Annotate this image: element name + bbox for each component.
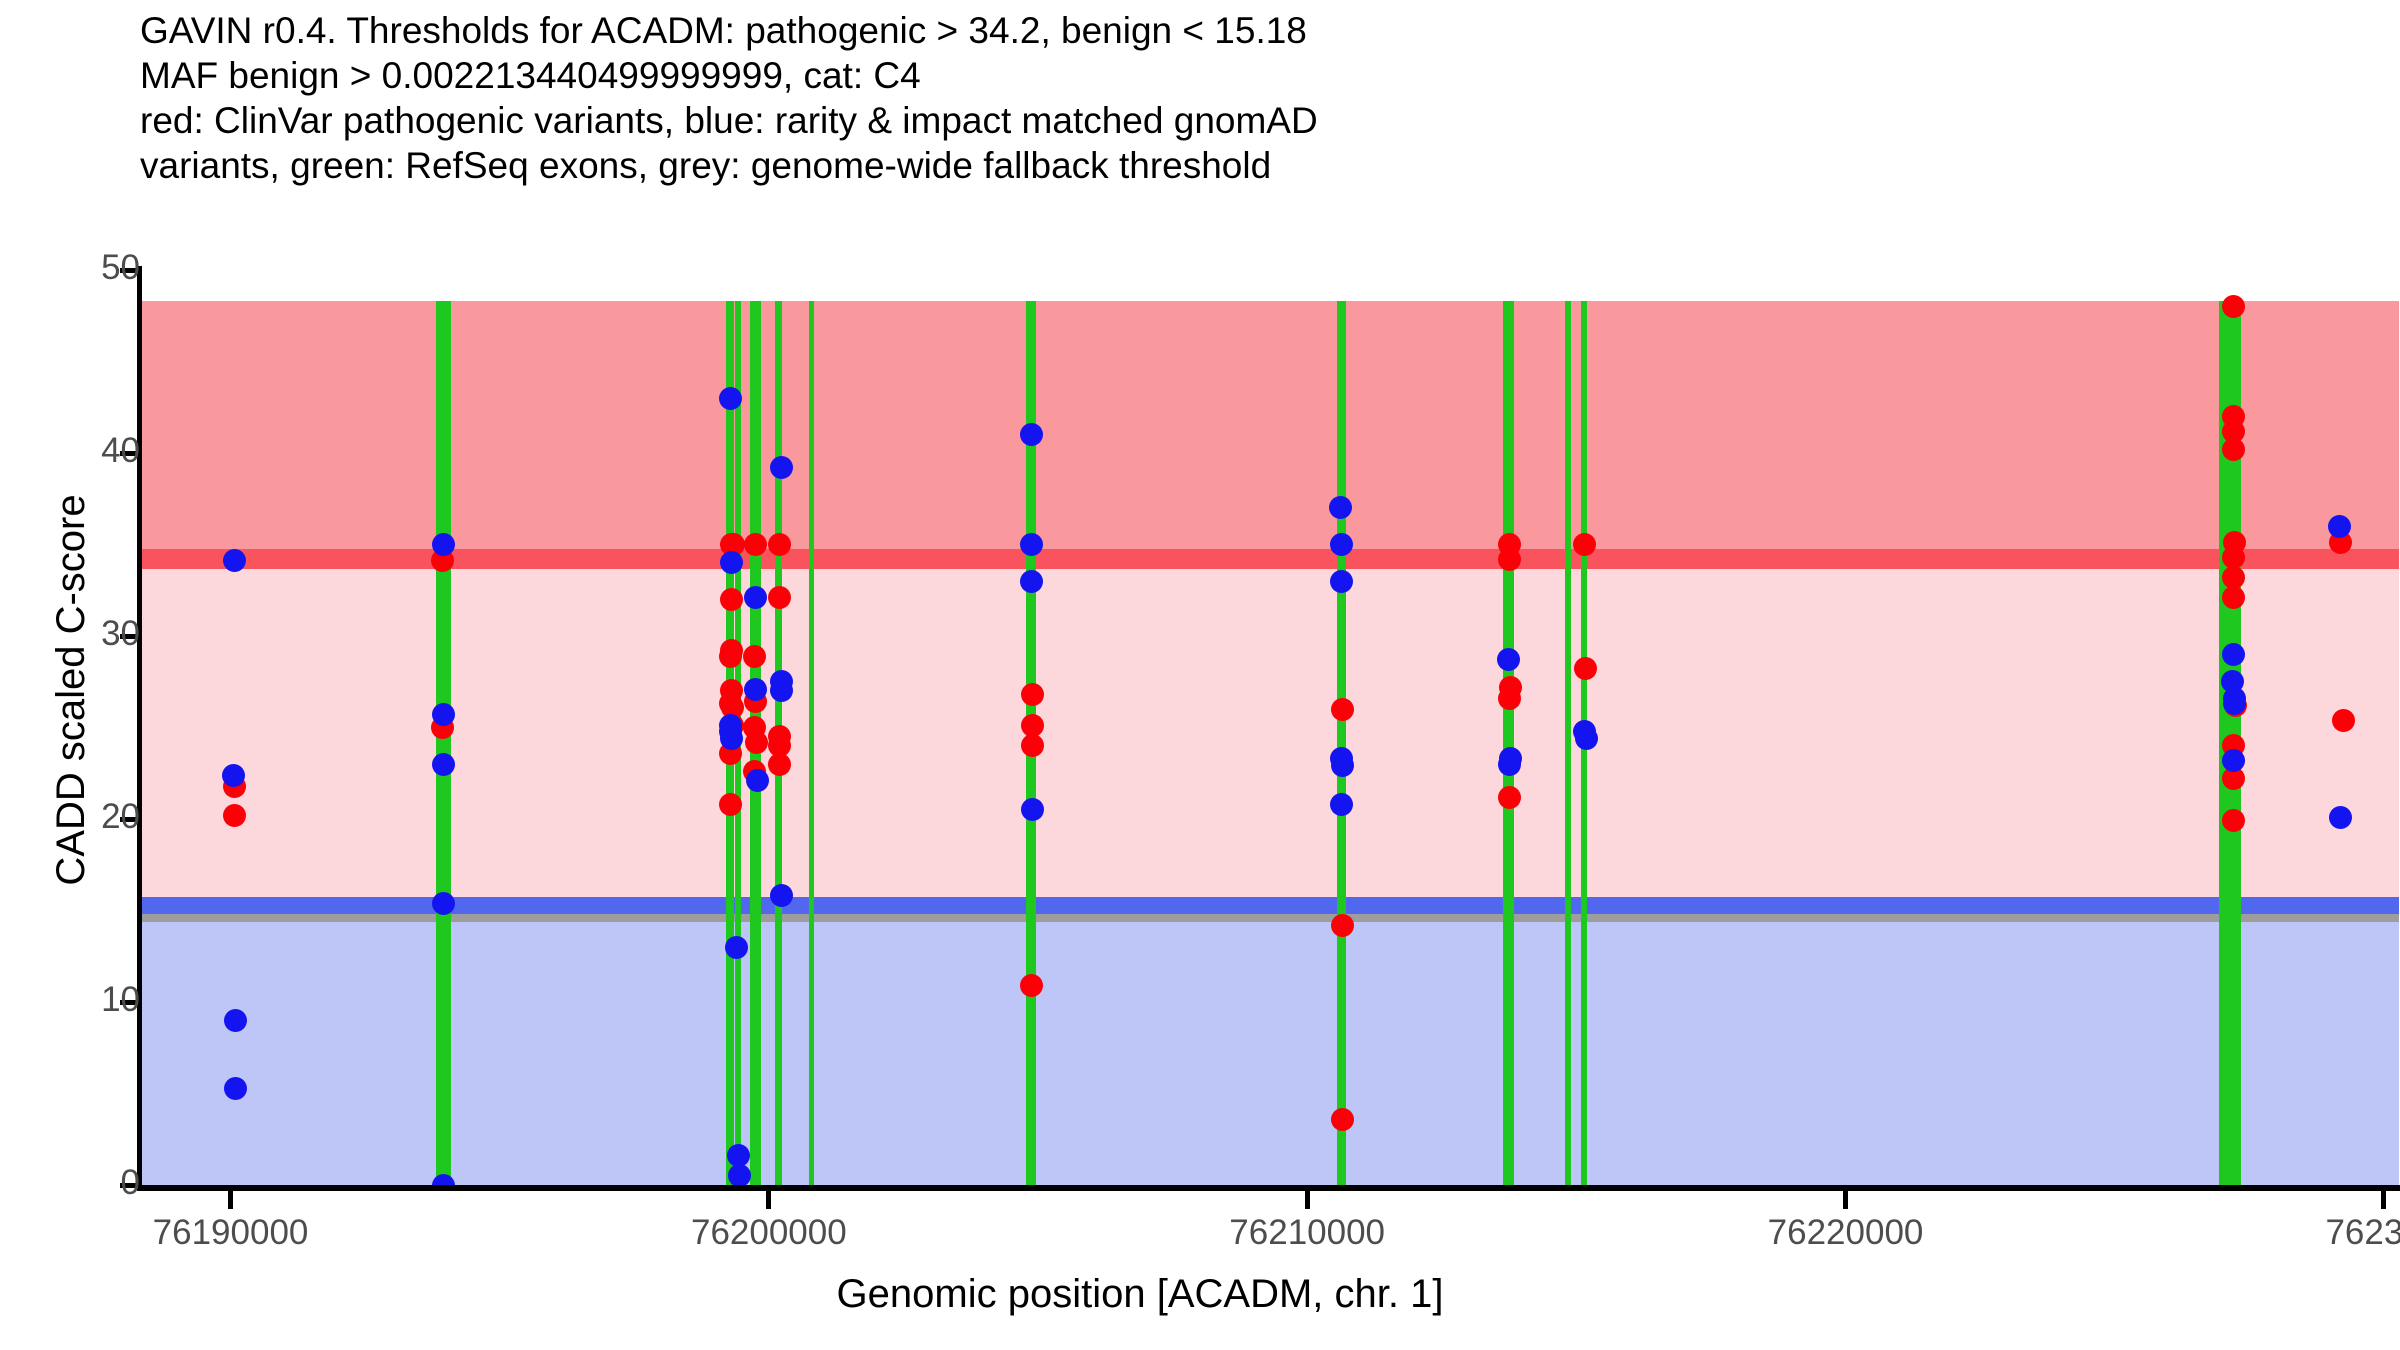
y-tick-label: 50 xyxy=(30,248,140,288)
exon-marker xyxy=(809,301,814,1185)
y-axis-title: CADD scaled C-score xyxy=(44,320,98,1060)
gnomad-variant-point xyxy=(432,892,455,915)
gnomad-variant-point xyxy=(1020,570,1043,593)
clinvar-variant-point xyxy=(1331,1108,1354,1131)
clinvar-variant-point xyxy=(745,731,768,754)
gnomad-variant-point xyxy=(725,936,748,959)
clinvar-variant-point xyxy=(2222,586,2245,609)
x-tick-label: 76220000 xyxy=(1768,1213,1924,1253)
gnomad-variant-point xyxy=(1330,570,1353,593)
exon-marker xyxy=(1337,301,1346,1185)
exon-marker xyxy=(436,301,451,1185)
clinvar-variant-point xyxy=(743,645,766,668)
region-benign-region xyxy=(139,918,2399,1185)
gnomad-variant-point xyxy=(2223,692,2246,715)
gnomad-variant-point xyxy=(1020,533,1043,556)
x-axis-title: Genomic position [ACADM, chr. 1] xyxy=(140,1272,2140,1317)
title-line-4: variants, green: RefSeq exons, grey: gen… xyxy=(140,143,2340,188)
x-tick-mark xyxy=(1305,1191,1310,1209)
gnomad-variant-point xyxy=(2329,806,2352,829)
gnomad-variant-point xyxy=(224,1077,247,1100)
y-tick-label: 0 xyxy=(30,1163,140,1203)
x-tick-label: 762300 xyxy=(2325,1213,2400,1253)
clinvar-variant-point xyxy=(223,804,246,827)
clinvar-variant-point xyxy=(720,588,743,611)
gnomad-variant-point xyxy=(719,387,742,410)
x-axis-line xyxy=(137,1185,2400,1191)
gnomad-variant-point xyxy=(1575,727,1598,750)
plot-canvas xyxy=(139,270,2399,1185)
gnomad-variant-point xyxy=(770,679,793,702)
gnomad-variant-point xyxy=(224,1009,247,1032)
threshold-line-pathogenic-threshold xyxy=(139,549,2399,569)
clinvar-variant-point xyxy=(1020,974,1043,997)
clinvar-variant-point xyxy=(719,793,742,816)
plot-area xyxy=(139,270,2399,1185)
clinvar-variant-point xyxy=(1573,533,1596,556)
gnomad-variant-point xyxy=(1330,793,1353,816)
gnomad-variant-point xyxy=(2222,749,2245,772)
x-tick-mark xyxy=(2381,1191,2386,1209)
gnomad-variant-point xyxy=(432,533,455,556)
gnomad-variant-point xyxy=(2328,515,2351,538)
gnomad-variant-point xyxy=(746,769,769,792)
x-tick-label: 76190000 xyxy=(153,1213,309,1253)
gnomad-variant-point xyxy=(1330,533,1353,556)
clinvar-variant-point xyxy=(1498,548,1521,571)
clinvar-variant-point xyxy=(1498,786,1521,809)
clinvar-variant-point xyxy=(768,753,791,776)
gnomad-variant-point xyxy=(432,753,455,776)
title-line-2: MAF benign > 0.002213440499999999, cat: … xyxy=(140,53,2340,98)
x-tick-mark xyxy=(228,1191,233,1209)
x-tick-label: 76200000 xyxy=(691,1213,847,1253)
clinvar-variant-point xyxy=(719,645,742,668)
title-line-1: GAVIN r0.4. Thresholds for ACADM: pathog… xyxy=(140,8,2340,53)
gnomad-variant-point xyxy=(720,551,743,574)
x-tick-mark xyxy=(766,1191,771,1209)
clinvar-variant-point xyxy=(768,533,791,556)
gnomad-variant-point xyxy=(1498,753,1521,776)
gnomad-variant-point xyxy=(744,678,767,701)
clinvar-variant-point xyxy=(2222,438,2245,461)
gnomad-variant-point xyxy=(2222,643,2245,666)
x-tick-label: 76210000 xyxy=(1229,1213,1385,1253)
clinvar-variant-point xyxy=(1498,687,1521,710)
exon-marker xyxy=(1565,301,1571,1185)
gnomad-variant-point xyxy=(432,703,455,726)
exon-marker xyxy=(1503,301,1514,1185)
region-pathogenic-region xyxy=(139,301,2399,559)
clinvar-variant-point xyxy=(2222,809,2245,832)
region-intermediate-region xyxy=(139,559,2399,907)
title-line-3: red: ClinVar pathogenic variants, blue: … xyxy=(140,98,2340,143)
clinvar-variant-point xyxy=(2332,709,2355,732)
clinvar-variant-point xyxy=(1331,914,1354,937)
x-tick-mark xyxy=(1843,1191,1848,1209)
gnomad-variant-point xyxy=(728,1164,751,1185)
threshold-line-genome-wide-fallback-threshold xyxy=(139,914,2399,922)
chart-title-block: GAVIN r0.4. Thresholds for ACADM: pathog… xyxy=(140,8,2340,188)
clinvar-variant-point xyxy=(2222,295,2245,318)
gnomad-variant-point xyxy=(222,764,245,787)
gnomad-variant-point xyxy=(720,727,743,750)
gnomad-variant-point xyxy=(770,456,793,479)
clinvar-variant-point xyxy=(1331,698,1354,721)
